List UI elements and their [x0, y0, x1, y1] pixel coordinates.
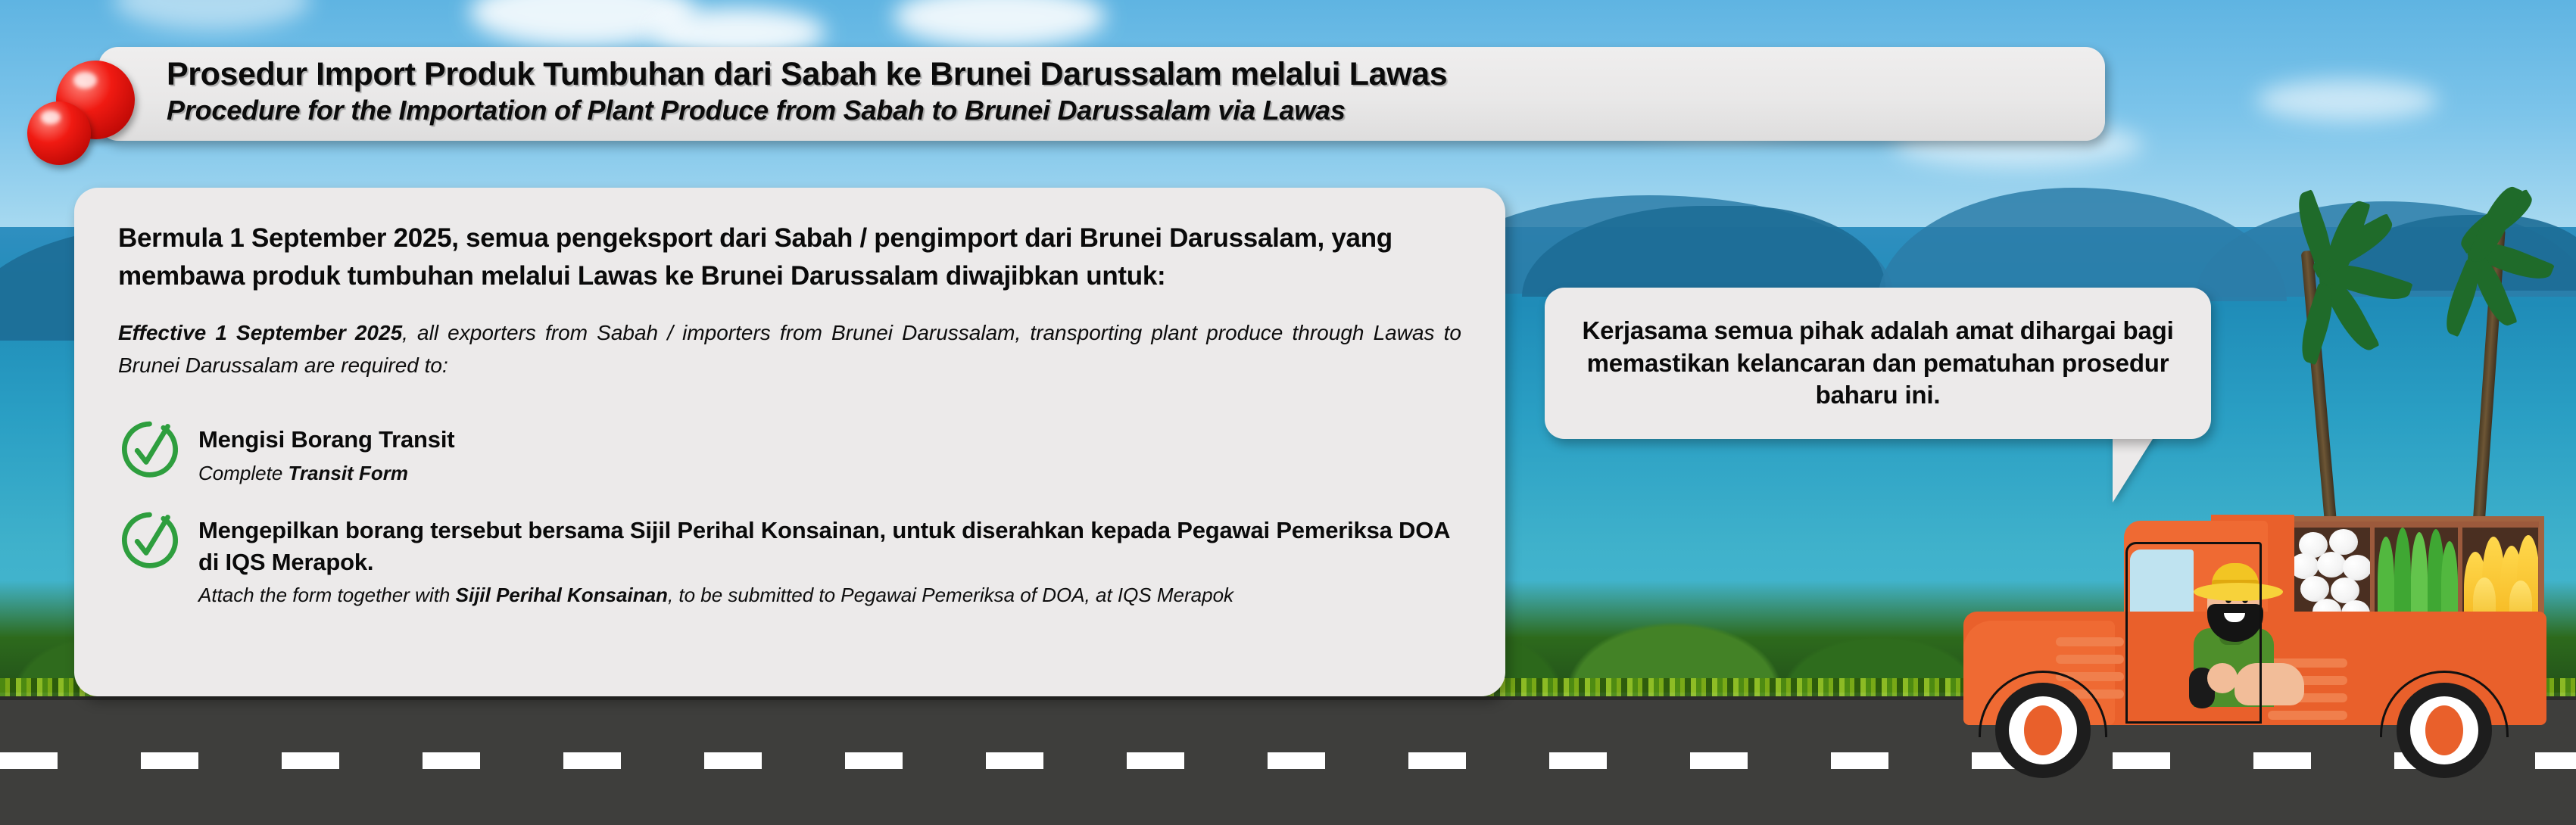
- lead-paragraph-malay: Bermula 1 September 2025, semua pengeksp…: [118, 219, 1461, 294]
- list-item-label-malay: Mengisi Borang Transit: [198, 424, 1461, 456]
- truck-rear-wheel: [2397, 683, 2492, 778]
- list-item-english-plain: Attach the form together with: [198, 584, 456, 606]
- list-item-body: Mengisi Borang Transit Complete Transit …: [198, 421, 1461, 487]
- list-item-english-tail: , to be submitted to Pegawai Pemeriksa o…: [668, 584, 1233, 606]
- pin-group: [23, 54, 174, 176]
- speech-bubble-text: Kerjasama semua pihak adalah amat diharg…: [1545, 315, 2211, 412]
- truck-door-outline: [2125, 542, 2262, 724]
- red-pushpin-icon: [27, 101, 91, 165]
- list-item-english-plain: Complete: [198, 462, 288, 484]
- lead-malay-bold: Bermula 1 September 2025,: [118, 223, 459, 253]
- header-card: Prosedur Import Produk Tumbuhan dari Sab…: [98, 47, 2105, 141]
- requirements-checklist: Mengisi Borang Transit Complete Transit …: [118, 421, 1461, 609]
- speech-bubble: Kerjasama semua pihak adalah amat diharg…: [1545, 288, 2211, 439]
- info-card: Bermula 1 September 2025, semua pengeksp…: [74, 188, 1505, 696]
- green-check-circle-icon: [118, 416, 182, 480]
- list-item: Mengisi Borang Transit Complete Transit …: [118, 421, 1461, 487]
- list-item: Mengepilkan borang tersebut bersama Siji…: [118, 512, 1461, 609]
- green-check-circle-icon: [118, 507, 182, 571]
- list-item-body: Mengepilkan borang tersebut bersama Siji…: [198, 512, 1461, 609]
- list-item-label-english: Complete Transit Form: [198, 459, 1461, 487]
- lead-paragraph-english: Effective 1 September 2025, all exporter…: [118, 317, 1461, 381]
- list-item-label-english: Attach the form together with Sijil Peri…: [198, 581, 1461, 609]
- page-title: Prosedur Import Produk Tumbuhan dari Sab…: [167, 57, 2105, 92]
- page-subtitle: Procedure for the Importation of Plant P…: [167, 95, 2105, 126]
- lead-english-bold: Effective 1 September 2025: [118, 321, 402, 344]
- list-item-english-bold: Transit Form: [288, 462, 408, 484]
- list-item-english-bold: Sijil Perihal Konsainan: [456, 584, 668, 606]
- orange-pickup-truck-illustration: [1950, 477, 2576, 780]
- infographic-poster: Prosedur Import Produk Tumbuhan dari Sab…: [0, 0, 2576, 825]
- list-item-label-malay: Mengepilkan borang tersebut bersama Siji…: [198, 515, 1461, 578]
- truck-front-wheel: [1995, 683, 2091, 778]
